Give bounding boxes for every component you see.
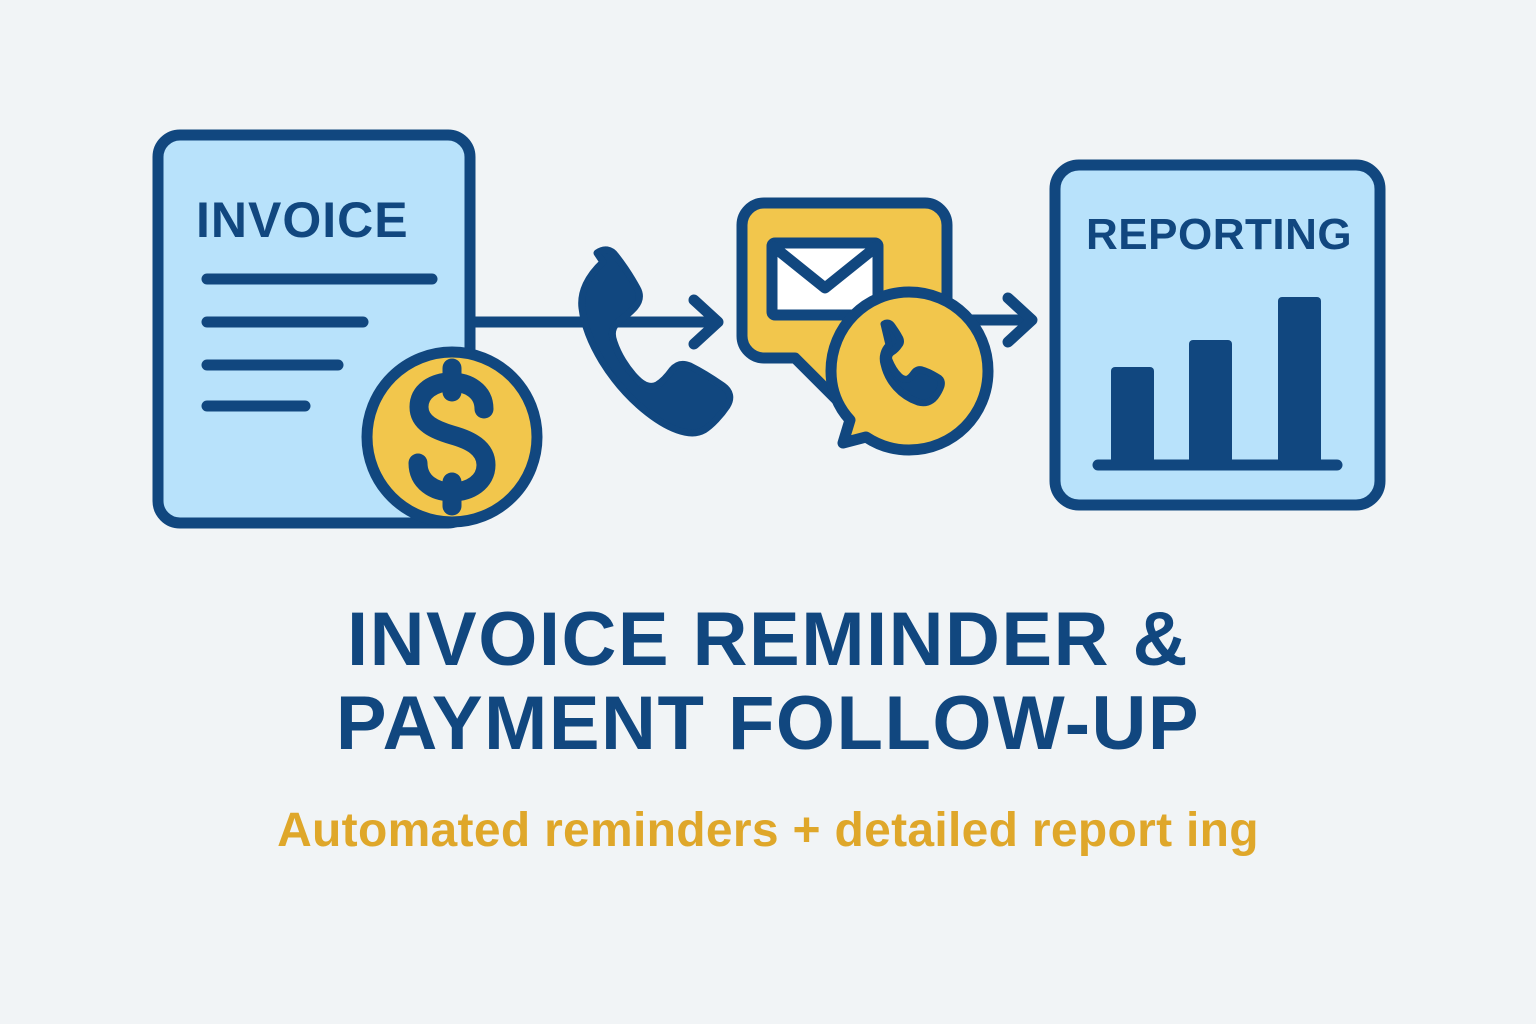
page-title-line-1: INVOICE REMINDER & (0, 598, 1536, 682)
reporting-card-label: REPORTING (1086, 210, 1352, 259)
page-subtitle: Automated reminders + detailed report in… (0, 766, 1536, 860)
page-title-line-2: PAYMENT FOLLOW-UP (0, 682, 1536, 766)
message-bubbles[interactable] (742, 203, 988, 450)
invoice-card-label: INVOICE (196, 192, 409, 248)
phone-chat-bubble-shape (831, 292, 988, 450)
phone-handset-icon[interactable] (582, 250, 730, 433)
dollar-coin-badge[interactable] (367, 352, 537, 522)
bar-chart-bar-3 (1278, 297, 1321, 465)
headline-block: INVOICE REMINDER & PAYMENT FOLLOW-UP Aut… (0, 598, 1536, 860)
reporting-card[interactable]: REPORTING (1055, 165, 1380, 505)
poster-canvas: INVOICE (0, 0, 1536, 1024)
bar-chart-bar-2 (1189, 340, 1232, 465)
bar-chart-bar-1 (1111, 367, 1154, 465)
phone-handset-shape (582, 250, 730, 433)
invoice-reminder-flow-graphic: INVOICE (0, 0, 1536, 600)
